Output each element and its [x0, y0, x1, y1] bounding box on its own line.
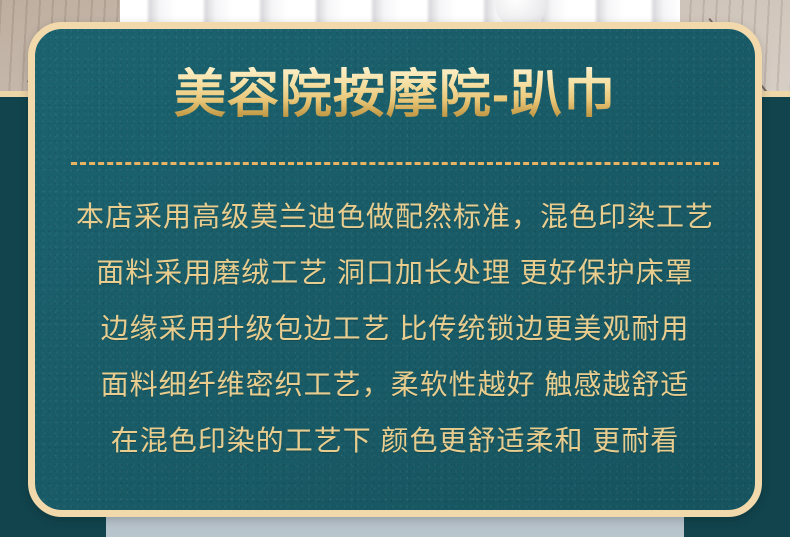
- feature-line-2: 面料采用磨绒工艺 洞口加长处理 更好保护床罩: [35, 245, 755, 301]
- feature-line-4: 面料细纤维密织工艺，柔软性越好 触感越舒适: [35, 357, 755, 413]
- feature-line-1: 本店采用高级莫兰迪色做配然标准，混色印染工艺: [35, 189, 755, 245]
- feature-line-3: 边缘采用升级包边工艺 比传统锁边更美观耐用: [35, 301, 755, 357]
- feature-line-5: 在混色印染的工艺下 颜色更舒适柔和 更耐看: [35, 413, 755, 469]
- info-card: 美容院按摩院-趴巾 本店采用高级莫兰迪色做配然标准，混色印染工艺 面料采用磨绒工…: [28, 22, 762, 517]
- promo-poster: 美容院按摩院-趴巾 本店采用高级莫兰迪色做配然标准，混色印染工艺 面料采用磨绒工…: [0, 0, 790, 537]
- dashed-divider: [71, 162, 719, 165]
- feature-list: 本店采用高级莫兰迪色做配然标准，混色印染工艺 面料采用磨绒工艺 洞口加长处理 更…: [35, 189, 755, 469]
- poster-title: 美容院按摩院-趴巾: [35, 67, 755, 124]
